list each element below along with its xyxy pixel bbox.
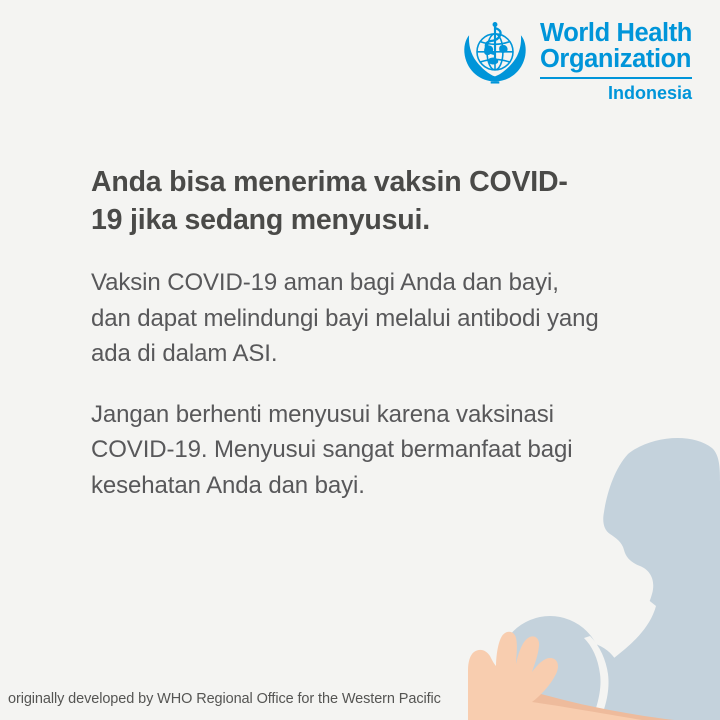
who-logo-lockup: World Health Organization Indonesia bbox=[459, 18, 692, 103]
headline: Anda bisa menerima vaksin COVID-19 jika … bbox=[91, 163, 591, 239]
rod-of-asclepius-icon bbox=[486, 22, 501, 61]
poster-content: Anda bisa menerima vaksin COVID-19 jika … bbox=[91, 163, 611, 503]
who-emblem-icon bbox=[459, 18, 531, 90]
who-infographic-poster: World Health Organization Indonesia Anda… bbox=[0, 0, 720, 720]
footer-credit: originally developed by WHO Regional Off… bbox=[8, 690, 441, 708]
who-logo-line-1: World Health bbox=[540, 20, 692, 46]
who-logo-line-2: Organization bbox=[540, 46, 692, 72]
who-logo-divider-rule bbox=[540, 77, 692, 79]
who-logo-text-block: World Health Organization Indonesia bbox=[540, 18, 692, 103]
body-paragraph-2: Jangan berhenti menyusui karena vaksinas… bbox=[91, 397, 603, 504]
who-logo-country-label: Indonesia bbox=[540, 83, 692, 103]
body-paragraph-1: Vaksin COVID-19 aman bagi Anda dan bayi,… bbox=[91, 265, 603, 372]
